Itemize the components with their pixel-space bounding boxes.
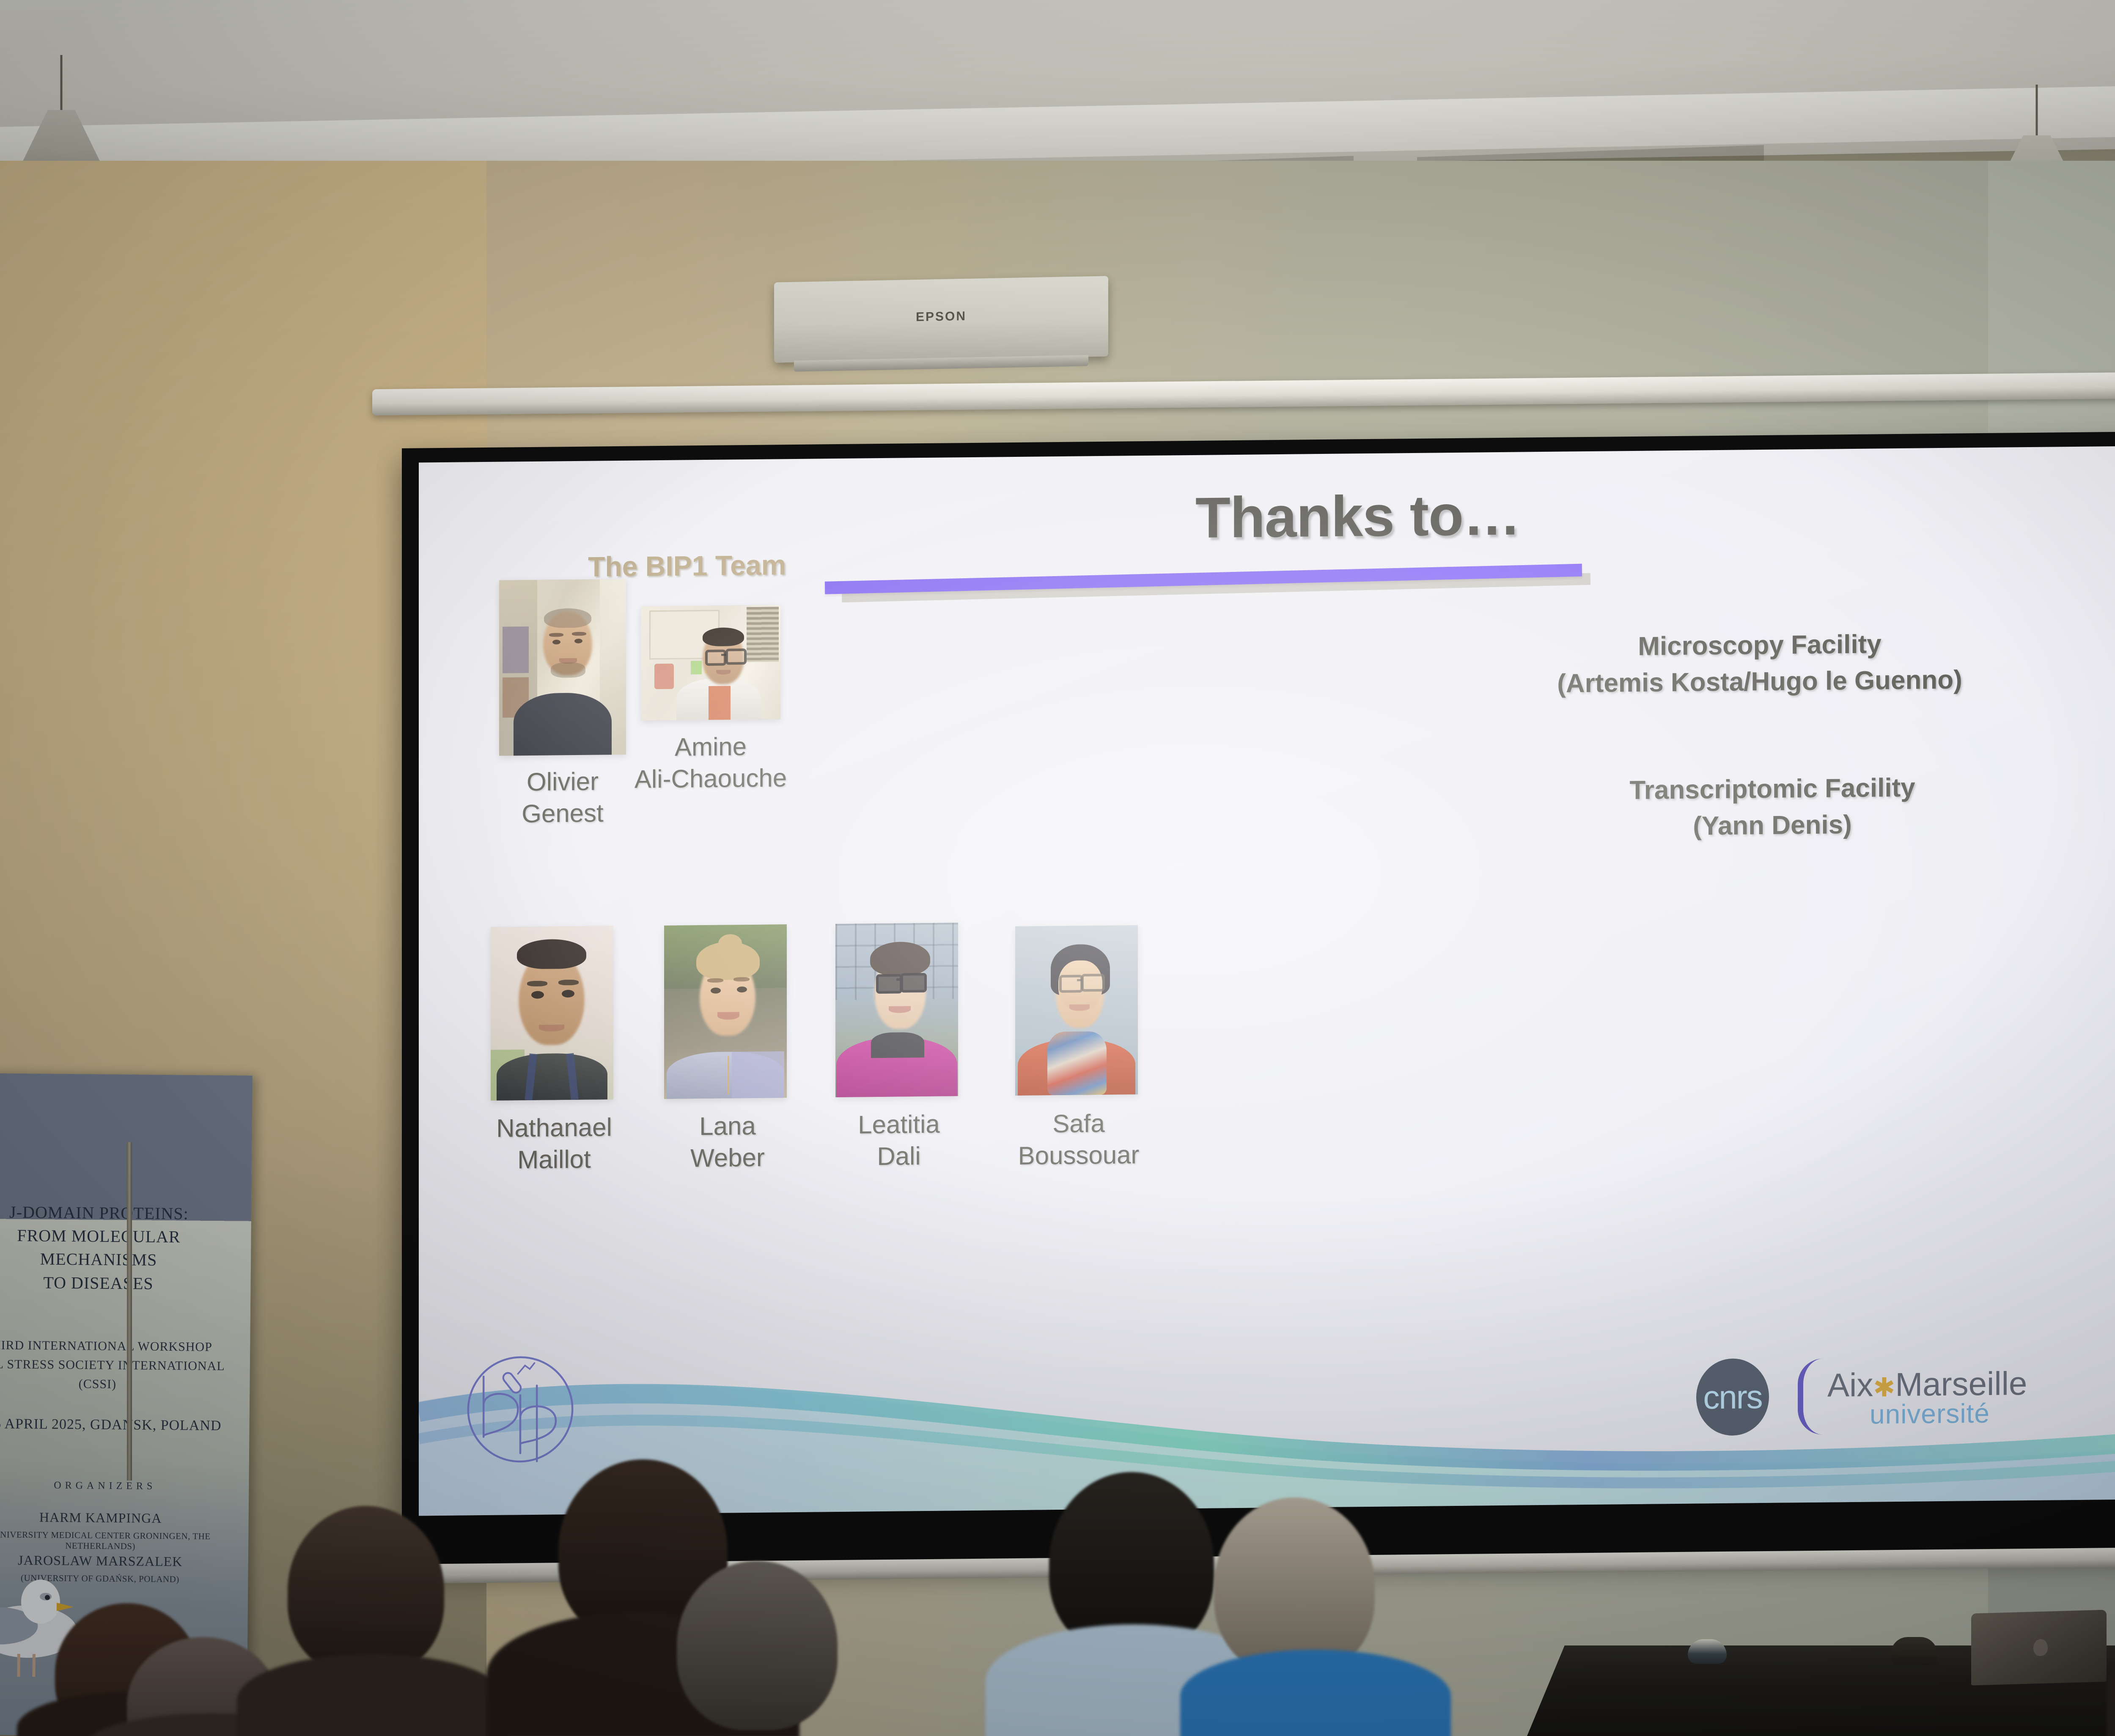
aix-marseille-universite-logo: Aix✱Marseille université [1798, 1356, 2068, 1435]
portrait-leatitia-dali [835, 923, 958, 1097]
team-member-name: Amine Ali-Chaouche [634, 730, 787, 795]
team-member-name: Safa Boussouar [1018, 1107, 1140, 1172]
banner-organizer-name: HARM KAMPINGA [0, 1509, 232, 1527]
facility-people: (Yann Denis) [1540, 805, 2005, 846]
facility-name: Transcriptomic Facility [1540, 769, 2005, 810]
audience-head [677, 1561, 838, 1730]
team-member-card: Olivier Genest [499, 579, 626, 843]
portrait-safa-boussouar [1015, 925, 1138, 1096]
team-member-card: Leatitia Dali [835, 923, 962, 1186]
team-member-name: Nathanael Maillot [496, 1111, 612, 1176]
team-member-card: Safa Boussouar [1015, 925, 1142, 1189]
banner-organizers-heading: ORGANIZERS [0, 1479, 223, 1493]
section-label-bip1-team: The BIP1 Team [588, 549, 786, 582]
paren-mark-icon [1798, 1359, 1826, 1435]
banner-organizer-affiliation: (UNIVERSITY MEDICAL CENTER GRONINGEN, TH… [0, 1529, 231, 1552]
apple-logo-icon [2033, 1639, 2048, 1656]
ceiling-projector: EPSON [774, 276, 1108, 363]
bip-logo [461, 1347, 580, 1467]
team-member-card: Nathanael Maillot [491, 926, 618, 1189]
conference-room-photo: EPSON Thanks to… The BIP1 Team Microscop… [0, 0, 2115, 1736]
facility-microscopy: Microscopy Facility (Artemis Kosta/Hugo … [1527, 625, 1992, 702]
amu-wordmark-line2: université [1870, 1398, 1990, 1430]
desk-object [1891, 1637, 1937, 1665]
banner-subtitle: THIRD INTERNATIONAL WORKSHOP CELL STRESS… [0, 1335, 237, 1395]
projection-screen-frame: Thanks to… The BIP1 Team Microscopy Faci… [402, 431, 2115, 1565]
portrait-olivier-genest [499, 579, 626, 756]
slide-title: Thanks to… [1019, 480, 1696, 552]
presentation-slide: Thanks to… The BIP1 Team Microscopy Faci… [419, 446, 2115, 1516]
banner-date-location: 3 - 6 APRIL 2025, GDAŃSK, POLAND [0, 1416, 241, 1434]
team-member-card: Amine Ali-Chaouche [641, 605, 780, 843]
facility-transcriptomic: Transcriptomic Facility (Yann Denis) [1540, 769, 2005, 846]
portrait-amine-ali-chaouche [641, 605, 780, 720]
amu-star-icon: ✱ [1873, 1373, 1895, 1402]
team-member-card: Lana Weber [664, 924, 791, 1188]
projector-brand-label: EPSON [774, 307, 1108, 327]
banner-support-pole [127, 1142, 132, 1481]
audience-head [1214, 1497, 1375, 1675]
partner-logos: cnrs Aix✱Marseille université [1696, 1352, 2068, 1440]
computer-mouse [1688, 1639, 1727, 1664]
facility-name: Microscopy Facility [1527, 625, 1992, 666]
portrait-lana-weber [664, 924, 787, 1099]
audience-head [288, 1506, 444, 1675]
laptop [1971, 1610, 2107, 1686]
team-member-name: Leatitia Dali [858, 1108, 939, 1173]
audience-shoulder [1180, 1650, 1451, 1736]
portrait-nathanael-maillot [491, 926, 613, 1101]
team-member-name: Olivier Genest [522, 765, 603, 830]
cnrs-logo: cnrs [1696, 1358, 1769, 1436]
banner-title: J-DOMAIN PROTEINS: FROM MOLECULAR MECHAN… [0, 1200, 234, 1296]
facility-people: (Artemis Kosta/Hugo le Guenno) [1527, 661, 1992, 702]
team-member-name: Lana Weber [690, 1110, 765, 1174]
